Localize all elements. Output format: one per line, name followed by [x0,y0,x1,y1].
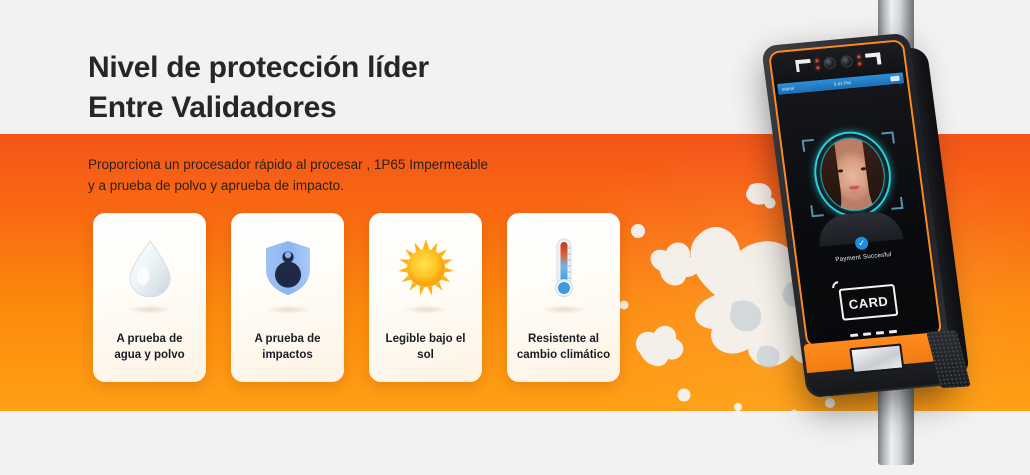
promo-banner: Nivel de protección líder Entre Validado… [0,0,1030,475]
device-screen[interactable]: ✓ Payment Succesful CARD Scan QR [776,84,940,346]
shield-kettlebell-icon [249,229,327,307]
ir-led [815,59,818,62]
ir-led-group-left [815,59,819,69]
page-subtitle: Proporciona un procesador rápido al proc… [88,155,488,197]
ir-led-group-right [857,55,861,65]
scan-corner-marker [810,204,824,217]
alignment-bracket-right-icon [864,52,881,65]
status-bar-signal: signal [782,85,795,91]
status-bar-icons [890,76,900,81]
feature-card-shockproof[interactable]: A prueba de impactos [231,213,344,382]
qr-scanner-window [849,343,904,374]
feature-card-label: A prueba de impactos [248,331,326,364]
card-label: CARD [838,284,898,321]
status-bar-time: 3:41 PM [833,80,851,87]
pin-dash [850,333,858,336]
ir-led [816,66,819,69]
feature-card-label: Resistente al cambio climático [511,331,616,364]
page-title: Nivel de protección líder Entre Validado… [88,48,429,127]
validator-device: signal 3:41 PM [760,0,1030,475]
ir-led [857,55,860,58]
alignment-bracket-left-icon [795,59,812,72]
battery-icon [890,76,900,81]
payment-status-text: Payment Succesful [797,248,929,267]
device-unit: signal 3:41 PM [761,33,955,399]
ir-led [858,62,861,65]
camera-lens-rgb [823,57,837,70]
water-droplet-icon [111,229,189,307]
scan-corner-marker [890,197,904,210]
pin-dash [876,331,884,334]
camera-lens-ir [840,55,854,68]
feature-card-sunlight-readable[interactable]: Legible bajo el sol [369,213,482,382]
feature-card-waterproof[interactable]: A prueba de agua y polvo [93,213,206,382]
contactless-card-graphic: CARD [829,275,909,327]
feature-card-weather-resistant[interactable]: Resistente al cambio climático [507,213,620,382]
scan-corner-marker [802,139,816,152]
sun-icon [387,229,465,307]
feature-card-label: Legible bajo el sol [380,331,472,364]
feature-card-label: A prueba de agua y polvo [108,331,190,364]
pin-dash [863,332,871,335]
thermometer-icon [525,229,603,307]
scan-corner-marker [881,131,895,144]
face-recognition-ring [809,128,896,220]
feature-card-list: A prueba de agua y polvo [93,213,620,382]
pin-dash [889,330,897,333]
